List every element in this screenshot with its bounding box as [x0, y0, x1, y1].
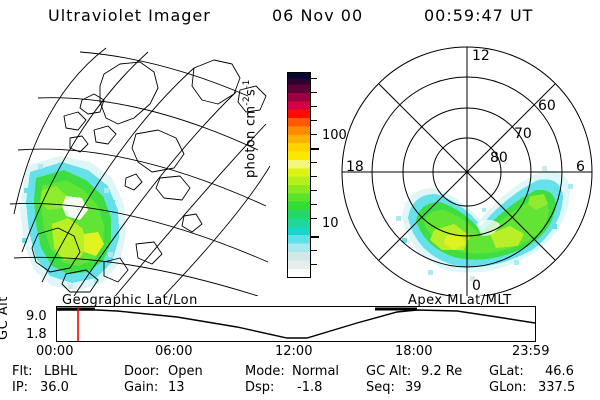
status-door-value: Open: [168, 364, 203, 379]
orbit-y-max-label: 9.0: [26, 309, 47, 324]
apex-dial-panel[interactable]: 12 18 6 0 60 70 80: [330, 38, 596, 296]
status-mode-label: Mode:: [245, 364, 285, 379]
apex-dial-svg: 12 18 6 0 60 70 80: [330, 38, 596, 296]
dial-mlt-spokes: [342, 47, 592, 296]
status-mode-value: Normal: [292, 364, 339, 379]
instrument-title: Ultraviolet Imager: [48, 6, 211, 25]
colorbar-unit-exp1: -2: [242, 96, 252, 106]
orbit-altitude-curve: [57, 310, 535, 338]
uvi-display: Ultraviolet Imager 06 Nov 00 00:59:47 UT: [0, 0, 600, 400]
header-bar: Ultraviolet Imager 06 Nov 00 00:59:47 UT: [0, 6, 600, 30]
status-seq-value: 39: [405, 380, 422, 395]
orbit-time-tick-1200: 12:00: [275, 344, 312, 359]
observation-time: 00:59:47 UT: [424, 6, 533, 25]
colorbar-unit-exp2: -1: [242, 79, 252, 89]
status-dsp-label: Dsp:: [245, 380, 274, 395]
status-gcalt-value: 9.2 Re: [421, 364, 462, 379]
colorbar-ticks: [311, 72, 319, 278]
status-flt-label: Flt:: [12, 364, 33, 379]
status-dsp-value: -1.8: [297, 380, 322, 395]
dial-label-mlat-70: 70: [514, 126, 532, 142]
geographic-map-svg: [8, 38, 270, 296]
observation-date: 06 Nov 00: [272, 6, 363, 25]
status-glat-value: 46.6: [545, 364, 574, 379]
dial-label-mlt-12: 12: [472, 48, 490, 64]
dial-label-mlt-6: 6: [576, 159, 585, 175]
status-ip-label: IP:: [12, 380, 28, 395]
status-gain-label: Gain:: [124, 380, 158, 395]
colorbar-unit-main: photon cm: [243, 106, 258, 178]
colorbar-axis-title: photon cm-2s-1: [242, 79, 258, 178]
status-footer: Flt: LBHL Door: Open Mode: Normal GC Alt…: [0, 364, 600, 400]
status-flt-value: LBHL: [44, 364, 77, 379]
dial-label-mlt-18: 18: [346, 159, 364, 175]
geographic-map-panel[interactable]: [8, 38, 270, 296]
orbit-y-min-label: 1.8: [26, 327, 47, 342]
orbit-plot-svg: [57, 307, 535, 341]
orbit-time-tick-0000: 00:00: [36, 344, 73, 359]
status-gain-value: 13: [168, 380, 185, 395]
status-glat-label: GLat:: [489, 364, 524, 379]
orbit-time-tick-1800: 18:00: [395, 344, 432, 359]
status-door-label: Door:: [124, 364, 159, 379]
aurora-emission-geographic: [20, 156, 126, 290]
status-gcalt-label: GC Alt:: [366, 364, 411, 379]
dial-label-mlat-60: 60: [538, 98, 556, 114]
dial-label-mlt-0: 0: [472, 278, 481, 294]
orbit-time-tick-0600: 06:00: [155, 344, 192, 359]
status-glon-label: GLon:: [489, 380, 527, 395]
orbit-time-tick-2359: 23:59: [512, 344, 549, 359]
status-seq-label: Seq:: [366, 380, 395, 395]
orbit-altitude-plot[interactable]: [56, 306, 536, 342]
status-ip-value: 36.0: [40, 380, 69, 395]
status-glon-value: 337.5: [538, 380, 575, 395]
dial-label-mlat-80: 80: [490, 150, 508, 166]
colorbar-unit-mid: s: [243, 89, 258, 96]
orbit-y-axis-title: GC Alt: [0, 296, 11, 340]
colorbar-gradient: [287, 72, 311, 278]
